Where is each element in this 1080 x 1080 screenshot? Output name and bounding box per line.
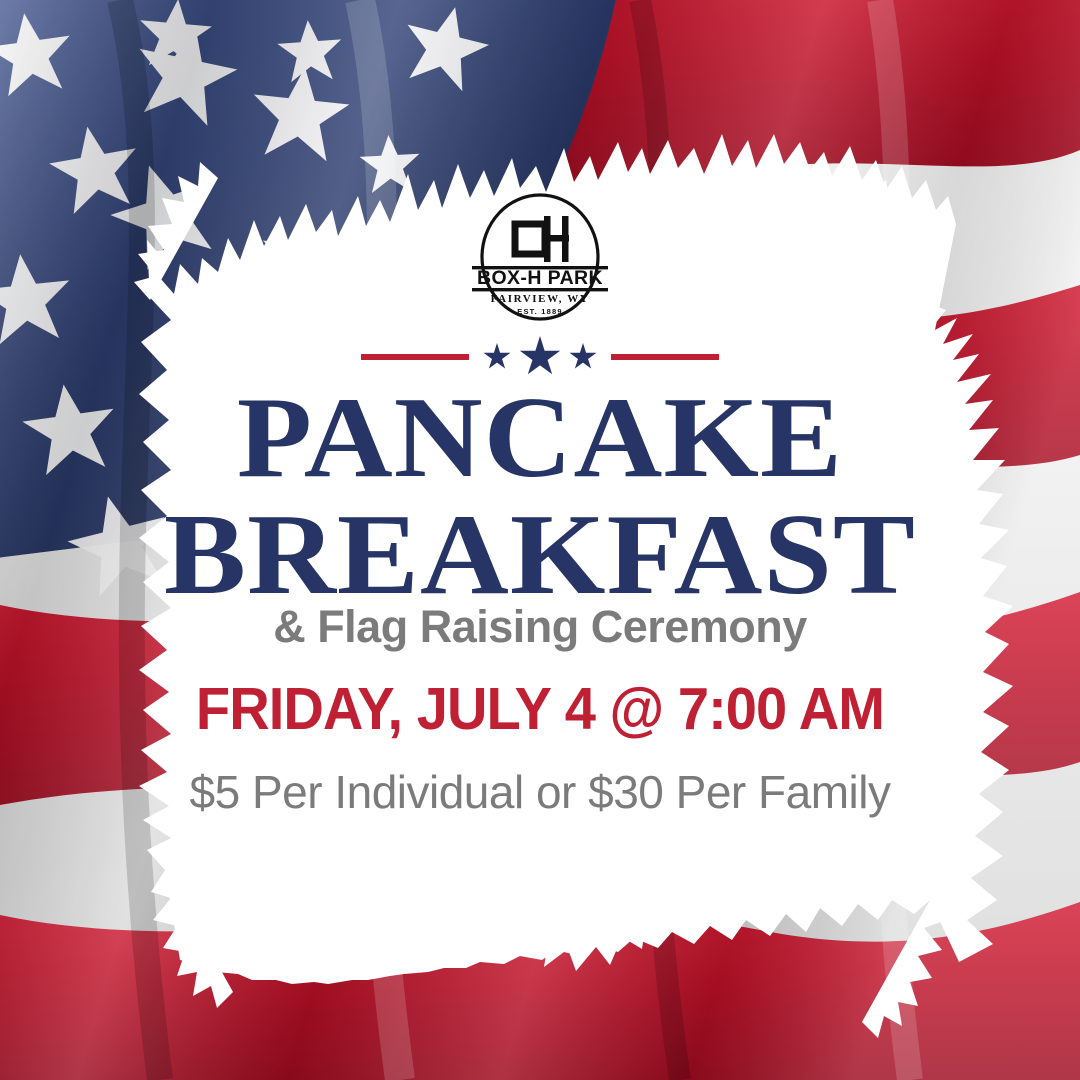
logo-location: FAIRVIEW, WY	[491, 293, 590, 305]
poster-canvas: BOX-H PARK FAIRVIEW, WY EST. 1889 PANCAK…	[0, 0, 1080, 1080]
logo-monogram-icon	[515, 216, 569, 262]
headline-line-2: BREAKFAST	[0, 501, 1080, 610]
divider-rule-left	[361, 354, 469, 360]
poster-content: BOX-H PARK FAIRVIEW, WY EST. 1889 PANCAK…	[0, 0, 1080, 1080]
pricing-line: $5 Per Individual or $30 Per Family	[0, 765, 1080, 819]
logo-svg: BOX-H PARK FAIRVIEW, WY EST. 1889	[460, 192, 620, 322]
logo-established: EST. 1889	[517, 307, 562, 316]
divider-rule-right	[611, 354, 719, 360]
logo-park-name: BOX-H PARK	[477, 267, 603, 289]
headline: PANCAKE BREAKFAST	[0, 384, 1080, 610]
box-h-park-logo: BOX-H PARK FAIRVIEW, WY EST. 1889	[460, 192, 620, 322]
star-icon-small-left	[483, 343, 511, 371]
subtitle: & Flag Raising Ceremony	[0, 601, 1080, 653]
star-icon-large-center	[519, 336, 561, 378]
divider-stars	[483, 336, 597, 378]
headline-line-1: PANCAKE	[0, 384, 1080, 493]
star-icon-small-right	[569, 343, 597, 371]
star-divider	[361, 336, 719, 378]
date-time-line: FRIDAY, JULY 4 @ 7:00 AM	[27, 675, 1053, 743]
